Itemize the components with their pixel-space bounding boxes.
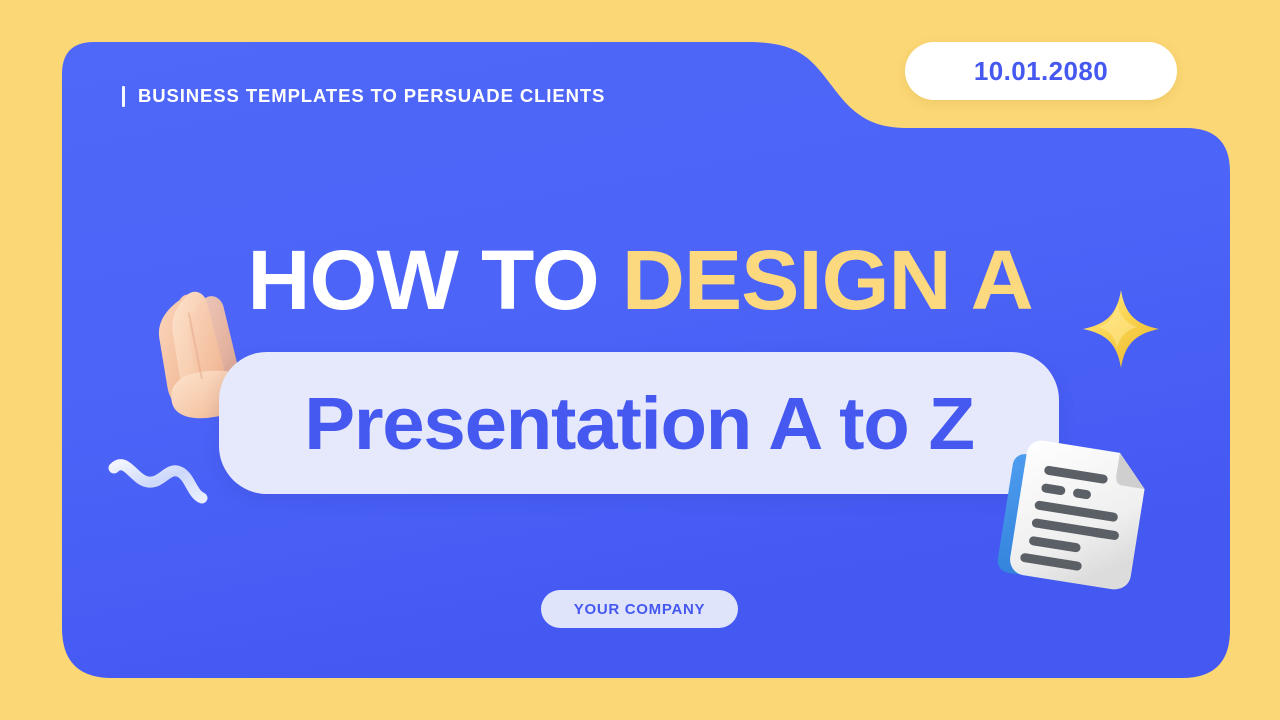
eyebrow-label: BUSINESS TEMPLATES TO PERSUADE CLIENTS (138, 85, 605, 107)
company-badge[interactable]: YOUR COMPANY (541, 590, 738, 628)
headline-primary: HOW TO (247, 233, 621, 327)
wavy-line-icon (104, 452, 209, 514)
eyebrow-divider-bar (122, 86, 125, 107)
company-label: YOUR COMPANY (574, 601, 705, 618)
subtitle-pill: Presentation A to Z (219, 352, 1059, 494)
eyebrow: BUSINESS TEMPLATES TO PERSUADE CLIENTS (122, 85, 605, 107)
document-page-icon (990, 425, 1165, 600)
slide-canvas: BUSINESS TEMPLATES TO PERSUADE CLIENTS 1… (0, 0, 1280, 720)
page-title: HOW TO DESIGN A (0, 236, 1280, 324)
subtitle-text: Presentation A to Z (304, 381, 974, 466)
date-text: 10.01.2080 (974, 56, 1108, 87)
headline-accent: DESIGN A (622, 233, 1033, 327)
date-badge[interactable]: 10.01.2080 (905, 42, 1177, 100)
